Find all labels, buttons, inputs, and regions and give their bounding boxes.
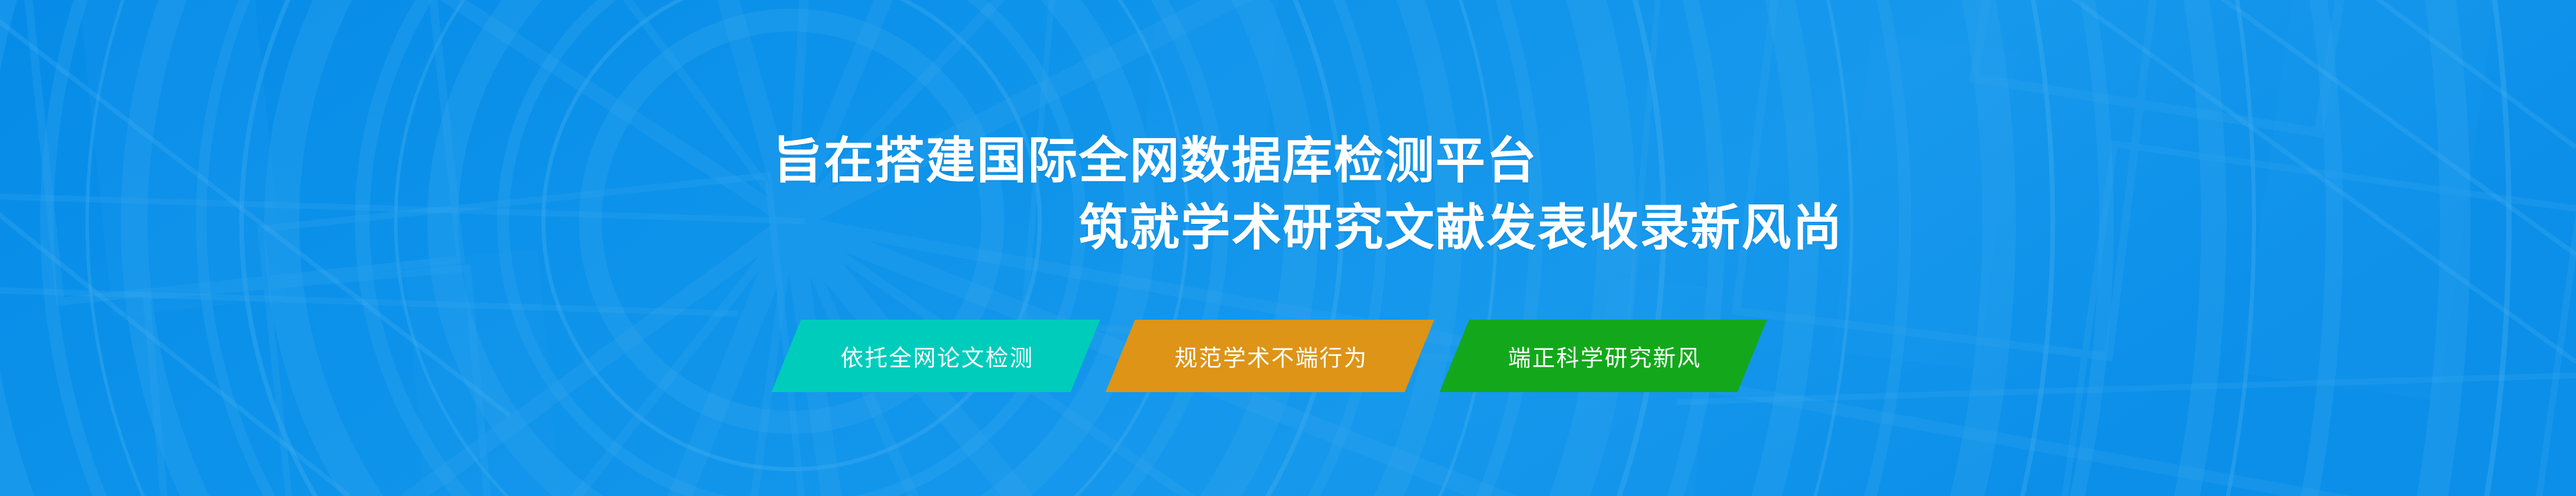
feature-tag-misconduct-label: 规范学术不端行为 [1172, 340, 1368, 373]
feature-tag-group: 依托全网论文检测 规范学术不端行为 端正科学研究新风 [771, 320, 1767, 392]
headline-block: 旨在搭建国际全网数据库检测平台 筑就学术研究文献发表收录新风尚 [0, 127, 2576, 261]
promo-banner: 旨在搭建国际全网数据库检测平台 筑就学术研究文献发表收录新风尚 依托全网论文检测… [0, 0, 2576, 496]
feature-tag-detection-label: 依托全网论文检测 [838, 340, 1034, 373]
headline-line-1: 旨在搭建国际全网数据库检测平台 [0, 127, 2576, 194]
feature-tag-detection[interactable]: 依托全网论文检测 [771, 320, 1100, 392]
feature-tag-integrity-label: 端正科学研究新风 [1505, 340, 1701, 373]
feature-tag-misconduct[interactable]: 规范学术不端行为 [1106, 320, 1434, 392]
headline-line-2: 筑就学术研究文献发表收录新风尚 [0, 194, 2576, 261]
feature-tag-integrity[interactable]: 端正科学研究新风 [1440, 320, 1767, 392]
